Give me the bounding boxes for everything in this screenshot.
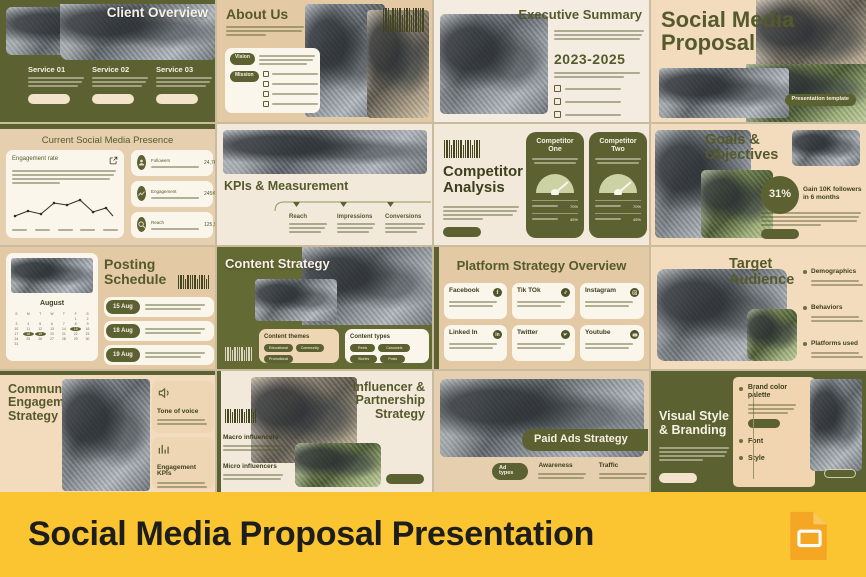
calendar-grid: S M T W T F S 12 3456789 10111213141516 … (11, 312, 93, 346)
types-title: Content types (350, 334, 424, 340)
platform-card[interactable]: Youtube (580, 325, 644, 361)
expand-icon[interactable] (109, 156, 118, 165)
mission-tag: Mission (230, 71, 259, 82)
bullet-icon (739, 439, 743, 443)
platform-name: Twitter (517, 330, 538, 337)
title-line-1: Target (729, 257, 794, 273)
kpi-item: Impressions (337, 214, 379, 233)
service-button[interactable] (92, 94, 134, 104)
check-icon (554, 98, 561, 105)
checklist-item (263, 81, 318, 87)
checklist-item (263, 91, 318, 97)
checklist-item (554, 98, 621, 105)
platform-card[interactable]: Facebook f (444, 283, 507, 319)
audience-item: Platforms used (803, 341, 865, 358)
branding-label: Font (748, 438, 763, 445)
facebook-icon: f (493, 288, 502, 297)
type-chip[interactable]: Carousels (378, 344, 410, 352)
metric-value: 70% (633, 204, 641, 209)
competitor-name-2: Two (595, 146, 641, 154)
barcode-icon (444, 140, 480, 158)
engagement-icon (137, 186, 146, 201)
themes-title: Content themes (264, 334, 334, 340)
competitor-name-1: Competitor (595, 138, 641, 146)
slide-influencer-partnership[interactable]: Influencer & Partnership Strategy Macro … (217, 371, 432, 493)
content-themes-card: Content themes Educational Community Pro… (259, 329, 339, 363)
title-line-3: Strategy (353, 408, 425, 422)
service-button[interactable] (156, 94, 198, 104)
theme-chip[interactable]: Promotional (264, 355, 293, 363)
platform-name: Youtube (585, 330, 611, 337)
barcode-icon (225, 409, 256, 423)
slide-about-us[interactable]: About Us Vision (217, 0, 432, 122)
checklist-item (554, 111, 621, 118)
reach-icon (137, 217, 146, 232)
schedule-date: 18 Aug (106, 324, 140, 338)
barcode-icon (225, 347, 252, 361)
influencer-label: Macro influencers (223, 435, 285, 442)
check-icon (263, 71, 269, 77)
theme-chip[interactable]: Educational (264, 344, 293, 352)
ad-types-tag: Ad types (492, 463, 528, 480)
title-line-1: Goals & (705, 133, 778, 149)
slide-platform-strategy[interactable]: Platform Strategy Overview Facebook f Ti… (434, 247, 649, 369)
stat-caption-2: in 6 months (803, 194, 866, 202)
stat-label: Engagement (151, 189, 199, 194)
platform-name: Instagram (585, 288, 616, 295)
metric-value: 70% (570, 204, 578, 209)
kpi-label: Reach (289, 214, 331, 220)
schedule-row: 18 Aug (104, 321, 214, 341)
weekday: M (23, 312, 34, 316)
learn-more-button[interactable] (443, 227, 481, 237)
card-label: Engagement KPIs (157, 465, 209, 478)
competitor-card: Competitor Two 70% 45 (589, 132, 647, 238)
barcode-icon (178, 275, 209, 289)
weekday: W (47, 312, 58, 316)
title-line-2: Objectives (705, 148, 778, 164)
platform-card[interactable]: Tik TOk (512, 283, 575, 319)
schedule-row: 19 Aug (104, 345, 214, 365)
engagement-line-chart (12, 192, 116, 222)
platform-name: Linked In (449, 330, 478, 337)
bottom-banner: Social Media Proposal Presentation (0, 492, 866, 577)
stat-circle: 31% (761, 176, 799, 214)
stat-caption-1: Gain 10K followers (803, 186, 866, 194)
service-item[interactable]: Service 03 (156, 66, 214, 109)
competitor-name-1: Competitor (532, 138, 578, 146)
slide-target-audience[interactable]: Target Audience Demographics Behaviors (651, 247, 866, 369)
influencer-item: Macro influencers (223, 435, 285, 452)
title-line-1: Social Media (661, 8, 811, 31)
metric-value: 45% (570, 217, 578, 222)
audience-label: Behaviors (811, 305, 842, 312)
slide-current-presence[interactable]: Current Social Media Presence Engagement… (0, 124, 215, 246)
stat-card: Reach 125,9K (131, 212, 213, 238)
check-icon (554, 111, 561, 118)
check-icon (263, 101, 269, 107)
title-line-1: Visual Style (659, 409, 729, 423)
schedule-date: 15 Aug (106, 300, 140, 314)
google-slides-icon (786, 510, 833, 560)
influencer-label: Micro influencers (223, 464, 285, 471)
platform-card[interactable]: Linked In in (444, 325, 507, 361)
slides-grid: Client Overview Client Overview Service … (0, 0, 866, 492)
platform-name: Tik TOk (517, 288, 541, 295)
theme-chip[interactable]: Community (296, 344, 324, 352)
influencer-item: Micro influencers (223, 464, 285, 481)
slide-kpis[interactable]: KPIs & Measurement Reach Impressions (217, 124, 432, 246)
template-preview-sheet: Client Overview Client Overview Service … (0, 0, 866, 577)
ad-label: Awareness (538, 463, 588, 470)
stat-value: 245K (204, 191, 215, 197)
slide-competitor-analysis[interactable]: Competitor Analysis Competitor One (434, 124, 649, 246)
title-line-1: Posting (104, 257, 166, 272)
stat-value: 24,7k (204, 160, 215, 166)
branding-label: Style (748, 455, 765, 462)
title-line-2: & Branding (659, 423, 729, 437)
ad-item: Awareness (538, 463, 588, 480)
service-button[interactable] (28, 94, 70, 104)
service-label: Service 02 (92, 66, 150, 74)
bullet-icon (803, 270, 807, 274)
learn-more-button[interactable] (386, 474, 424, 484)
service-label: Service 01 (28, 66, 86, 74)
audience-item: Behaviors (803, 305, 865, 322)
presentation-template-badge: Presentation template (785, 94, 856, 106)
checklist-item (263, 71, 318, 77)
branding-label: Brand color palette (748, 384, 809, 400)
bullet-icon (739, 387, 743, 391)
platform-card[interactable]: Twitter (512, 325, 575, 361)
checklist-item (263, 101, 318, 107)
title-line-1: Competitor (443, 164, 523, 180)
followers-icon (137, 155, 146, 170)
type-chip[interactable]: Reels (350, 344, 375, 352)
audience-label: Platforms used (811, 341, 858, 348)
content-types-card: Content types Reels Carousels Stories Po… (345, 329, 429, 363)
slide-posting-schedule[interactable]: August S M T W T F S 12 3456789 10111213… (0, 247, 215, 369)
stat-label: Reach (151, 220, 199, 225)
bullet-icon (803, 342, 807, 346)
vision-tag: Vision (230, 53, 255, 65)
audience-label: Demographics (811, 269, 856, 276)
linkedin-icon: in (493, 330, 502, 339)
title-line-2: Analysis (443, 180, 523, 196)
speaker-icon (157, 387, 171, 404)
weekday: T (35, 312, 46, 316)
title-line-1: Influencer & (353, 381, 425, 395)
slide-goals-objectives[interactable]: Goals & Objectives 31% Gain 10K follower… (651, 124, 866, 246)
slide-community-engagement[interactable]: Community Engagement Strategy Tone of vo… (0, 371, 215, 493)
weekday: F (70, 312, 81, 316)
gauge-icon (595, 169, 641, 195)
stat-value: 31% (769, 189, 791, 200)
kpi-item: Reach (289, 214, 331, 233)
slide-title[interactable]: Social Media Proposal Presentation templ… (651, 0, 866, 122)
weekday: T (58, 312, 69, 316)
slide15-title: Paid Ads Strategy (534, 434, 628, 445)
slide5-title: Current Social Media Presence (0, 135, 215, 146)
instagram-icon (630, 288, 639, 297)
tiktok-icon (561, 288, 570, 297)
learn-more-button[interactable] (761, 229, 799, 239)
slide10-title: Content Strategy (225, 257, 330, 270)
chart-icon (157, 443, 171, 460)
youtube-icon (630, 330, 639, 339)
learn-more-button-3[interactable] (824, 469, 856, 478)
weekday: S (11, 312, 22, 316)
check-icon (263, 81, 269, 87)
slide1-title-top: Client Overview (107, 6, 208, 20)
engagement-card: Engagement KPIs (152, 437, 214, 489)
title-line-2: Schedule (104, 272, 166, 287)
platform-card[interactable]: Instagram (580, 283, 644, 319)
banner-title: Social Media Proposal Presentation (28, 515, 594, 554)
checklist-item (554, 85, 621, 92)
chart-card-title: Engagement rate (12, 156, 58, 162)
type-chip[interactable]: Stories (350, 355, 377, 363)
engagement-card: Tone of voice (152, 381, 214, 433)
kpi-label: Impressions (337, 214, 379, 220)
ad-label: Traffic (599, 463, 649, 470)
stat-card: Followers 24,7k (131, 150, 213, 176)
slide-executive-summary[interactable]: Executive Summary 2023-2025 (434, 0, 649, 122)
type-chip[interactable]: Posts (380, 355, 405, 363)
competitor-card: Competitor One 70% 45 (526, 132, 584, 238)
stat-value: 125,9K (204, 222, 215, 228)
gauge-icon (532, 169, 578, 195)
service-item[interactable]: Service 02 (92, 66, 150, 109)
branding-item: Style (739, 455, 809, 462)
stat-label: Followers (151, 158, 199, 163)
branding-item: Font (739, 438, 809, 445)
metric-value: 45% (633, 217, 641, 222)
slide-client-overview[interactable]: Client Overview Client Overview Service … (0, 0, 215, 122)
audience-item: Demographics (803, 269, 865, 286)
title-line-2: Partnership (353, 394, 425, 408)
title-line-2: Audience (729, 273, 794, 289)
kpi-item: Conversions (385, 214, 429, 233)
slide-content-strategy[interactable]: Content Strategy Content themes Educatio… (217, 247, 432, 369)
weekday: S (82, 312, 93, 316)
years-range: 2023-2025 (554, 52, 625, 66)
calendar-month: August (11, 300, 93, 307)
schedule-date: 19 Aug (106, 348, 140, 362)
schedule-row: 15 Aug (104, 297, 214, 317)
bullet-icon (739, 456, 743, 460)
slide2-title: About Us (226, 7, 288, 21)
bullet-icon (803, 306, 807, 310)
title-line-2: Proposal (661, 31, 811, 54)
check-icon (554, 85, 561, 92)
service-item[interactable]: Service 01 (28, 66, 86, 109)
slide-paid-ads[interactable]: Paid Ads Strategy Ad types Awareness Tra… (434, 371, 649, 493)
platform-name: Facebook (449, 288, 479, 295)
learn-more-button[interactable] (659, 473, 697, 483)
ad-item: Traffic (599, 463, 649, 480)
branding-item: Brand color palette (739, 384, 809, 428)
twitter-icon (561, 330, 570, 339)
card-label: Tone of voice (157, 409, 209, 416)
slide6-title: KPIs & Measurement (224, 180, 348, 193)
slide-visual-style[interactable]: Visual Style & Branding Brand color pale… (651, 371, 866, 493)
service-label: Service 03 (156, 66, 214, 74)
competitor-name-2: One (532, 146, 578, 154)
kpi-label: Conversions (385, 214, 429, 220)
stat-card: Engagement 245K (131, 181, 213, 207)
barcode-icon (383, 8, 424, 32)
kpi-connector (273, 200, 432, 212)
slide11-title: Platform Strategy Overview (434, 259, 649, 272)
slide3-title: Executive Summary (518, 8, 642, 21)
check-icon (263, 91, 269, 97)
